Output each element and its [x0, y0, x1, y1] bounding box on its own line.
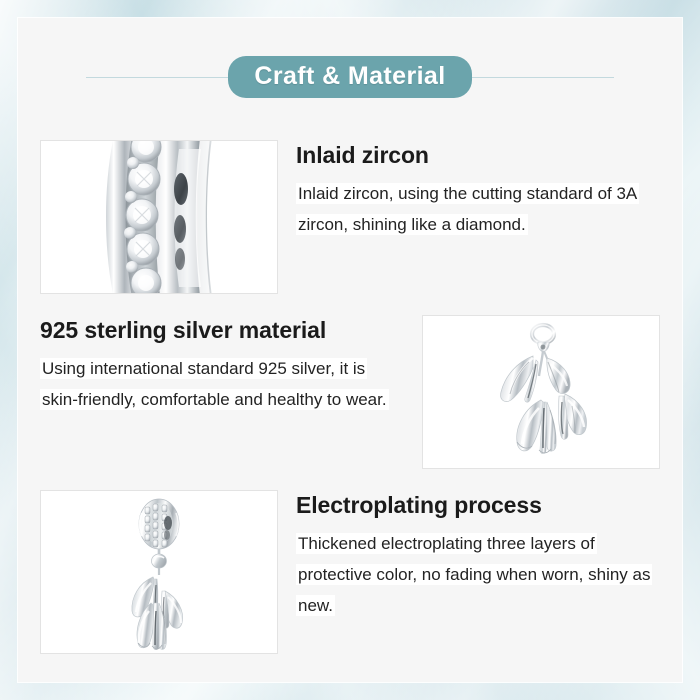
paved-bail-bead	[139, 499, 179, 549]
feature-body: Thickened electroplating three layers of…	[296, 528, 660, 622]
feature-body: Inlaid zircon, using the cutting standar…	[296, 178, 660, 241]
feature-body-text: Thickened electroplating three layers of…	[296, 533, 652, 617]
feature-copy-sterling-silver: 925 sterling silver material Using inter…	[40, 315, 404, 415]
title-rule-right	[458, 77, 614, 78]
feature-section-inlaid-zircon: Inlaid zircon Inlaid zircon, using the c…	[40, 140, 660, 294]
feature-heading: 925 sterling silver material	[40, 317, 404, 345]
feature-section-electroplating: Electroplating process Thickened electro…	[40, 490, 660, 654]
product-detail-banner: Craft & Material	[0, 0, 700, 700]
feature-heading: Electroplating process	[296, 492, 660, 520]
title-rule-left	[86, 77, 242, 78]
page-title: Craft & Material	[228, 56, 471, 98]
feature-copy-electroplating: Electroplating process Thickened electro…	[296, 490, 660, 622]
feature-body-text: Inlaid zircon, using the cutting standar…	[296, 183, 639, 235]
product-photo-inlaid-zircon	[40, 140, 278, 294]
content-panel: Craft & Material	[18, 18, 682, 682]
inlaid-zircon-illustration	[41, 141, 277, 293]
feature-body-text: Using international standard 925 silver,…	[40, 358, 389, 410]
feature-copy-inlaid-zircon: Inlaid zircon Inlaid zircon, using the c…	[296, 140, 660, 240]
product-photo-electroplating	[40, 490, 278, 654]
feature-heading: Inlaid zircon	[296, 142, 660, 170]
dangle-charm-illustration	[41, 491, 277, 653]
feature-section-sterling-silver: 925 sterling silver material Using inter…	[40, 315, 660, 469]
feature-body: Using international standard 925 silver,…	[40, 353, 404, 416]
bell-flower-charm-illustration	[423, 316, 659, 468]
product-photo-sterling-silver	[422, 315, 660, 469]
section-title-row: Craft & Material	[18, 60, 682, 94]
